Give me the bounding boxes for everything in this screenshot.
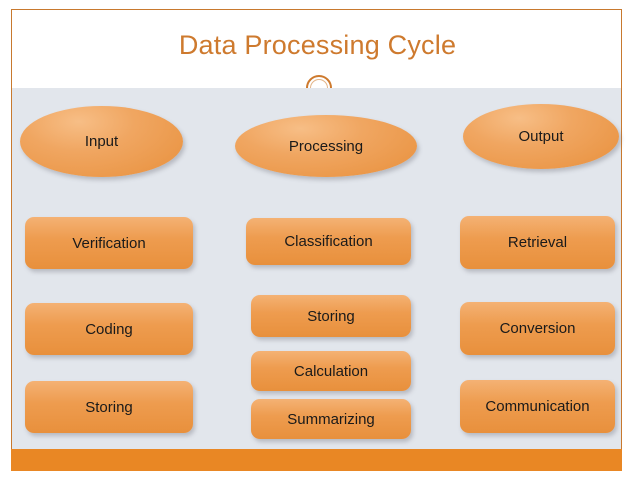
step-label: Storing [307, 308, 355, 325]
step-box-coding[interactable]: Coding [25, 303, 193, 355]
step-box-communication[interactable]: Communication [460, 380, 615, 433]
step-box-storing-input[interactable]: Storing [25, 381, 193, 433]
step-box-calculation[interactable]: Calculation [251, 351, 411, 391]
step-box-retrieval[interactable]: Retrieval [460, 216, 615, 269]
step-label: Storing [85, 399, 133, 416]
stage-ellipse-input[interactable]: Input [20, 106, 183, 177]
stage-label: Processing [289, 138, 363, 155]
step-label: Communication [485, 398, 589, 415]
step-label: Retrieval [508, 234, 567, 251]
stage-ellipse-processing[interactable]: Processing [235, 115, 417, 177]
step-box-verification[interactable]: Verification [25, 217, 193, 269]
slide-body: Input Processing Output Verification Cod… [11, 88, 622, 449]
slide: Data Processing Cycle Input Processing O… [0, 0, 638, 479]
step-label: Coding [85, 321, 133, 338]
step-box-classification[interactable]: Classification [246, 218, 411, 265]
step-box-storing-processing[interactable]: Storing [251, 295, 411, 337]
step-label: Calculation [294, 363, 368, 380]
stage-label: Input [85, 133, 118, 150]
step-box-summarizing[interactable]: Summarizing [251, 399, 411, 439]
step-box-conversion[interactable]: Conversion [460, 302, 615, 355]
footer-accent-bar [11, 449, 622, 471]
stage-ellipse-output[interactable]: Output [463, 104, 619, 169]
step-label: Conversion [500, 320, 576, 337]
step-label: Verification [72, 235, 145, 252]
page-title: Data Processing Cycle [12, 30, 623, 61]
stage-label: Output [518, 128, 563, 145]
step-label: Classification [284, 233, 372, 250]
step-label: Summarizing [287, 411, 375, 428]
